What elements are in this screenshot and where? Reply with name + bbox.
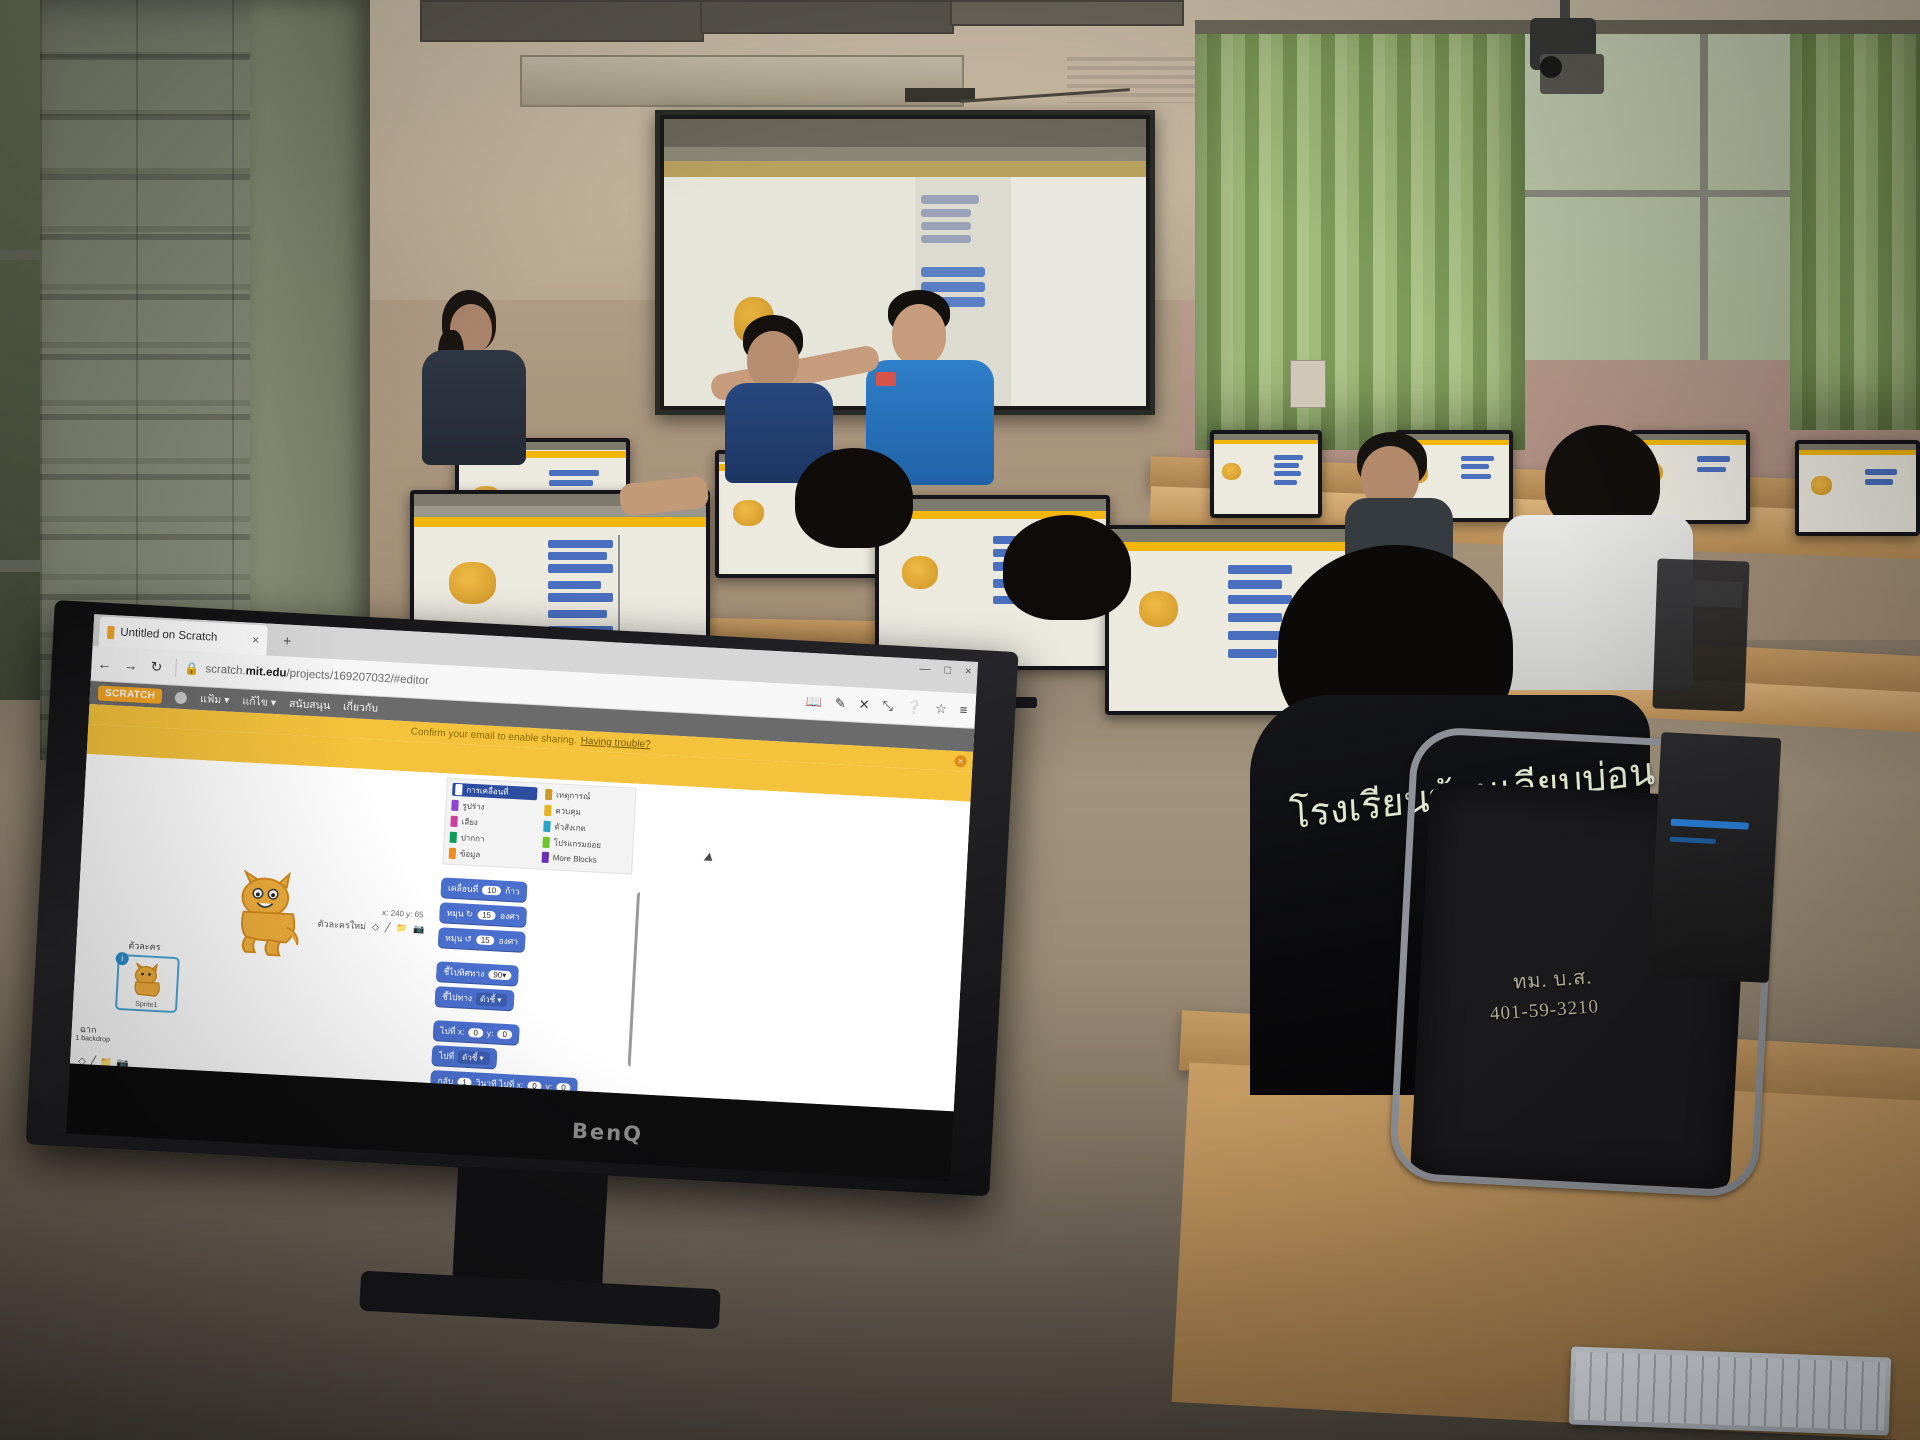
category-label: การเคลื่อนที่: [466, 784, 509, 799]
torso: [422, 350, 526, 465]
scratch-logo[interactable]: SCRATCH: [98, 685, 163, 703]
scratch-block[interactable]: ไปที่ x:0y:0: [433, 1020, 520, 1045]
scratch-workspace: x: 240 y: 65 ตัวละครใหม่ ◇ ╱ 📁 📷 ตัวละคร…: [70, 754, 970, 1111]
coord-x: x: 240: [382, 908, 404, 918]
motion-swatch: [455, 784, 463, 795]
category-label: ข้อมูล: [460, 847, 481, 861]
menu-edit[interactable]: แก้ไข ▾: [242, 692, 277, 711]
fullscreen-icon[interactable]: ⤡: [882, 698, 893, 715]
favorite-icon[interactable]: ☆: [935, 701, 948, 718]
category-label: ปากกา: [460, 831, 484, 845]
sprite-thumbnail[interactable]: i Sprite1: [115, 954, 180, 1013]
green-curtain: [1790, 30, 1920, 430]
monitor-stand: [452, 1166, 608, 1294]
block-label: ก้าว: [505, 884, 520, 899]
close-alert-icon[interactable]: ×: [954, 755, 967, 768]
green-curtain: [1195, 30, 1525, 450]
camera-lens-icon: [1540, 56, 1562, 78]
url-domain: mit.edu: [245, 665, 286, 679]
ceiling-panel: [700, 0, 954, 34]
category-more-blocks[interactable]: More Blocks: [542, 852, 627, 868]
scratch-scripts-area[interactable]: [628, 784, 970, 1111]
block-label: ชี้ไปทาง: [442, 990, 473, 1006]
foreground-monitor: Untitled on Scratch × + — □ × ← → ↻ 🔒 sc…: [25, 600, 1054, 1213]
background-monitor: [1795, 440, 1920, 536]
block-input[interactable]: 90▾: [488, 969, 511, 979]
block-label: ไปที่ x:: [440, 1023, 465, 1038]
category-column-left: การเคลื่อนที่ รูปร่าง เสียง ปากกา ข้อมูล: [449, 783, 538, 864]
category-motion[interactable]: การเคลื่อนที่: [452, 783, 538, 801]
upload-sprite-icon[interactable]: 📁: [396, 922, 408, 934]
monitor-brand-logo: BenQ: [571, 1119, 643, 1147]
new-sprite-label: ตัวละครใหม่: [317, 917, 366, 934]
scratch-favicon: [107, 625, 115, 638]
category-label: โปรแกรมย่อย: [553, 836, 601, 852]
block-label: y:: [487, 1028, 494, 1038]
sprite-thumb-cat-icon: [125, 961, 167, 1003]
maximize-icon[interactable]: □: [944, 664, 951, 676]
sound-swatch: [450, 816, 458, 827]
alert-link[interactable]: Having trouble?: [580, 735, 651, 750]
scratch-stage-pane[interactable]: x: 240 y: 65 ตัวละครใหม่ ◇ ╱ 📁 📷 ตัวละคร…: [70, 754, 441, 1105]
head: [892, 304, 946, 366]
menu-file[interactable]: แฟ้ม ▾: [200, 690, 230, 709]
keyboard: [1569, 1346, 1892, 1435]
monitor-screen[interactable]: Untitled on Scratch × + — □ × ← → ↻ 🔒 sc…: [70, 614, 978, 1111]
category-pen[interactable]: ปากกา: [449, 831, 535, 849]
category-sensing[interactable]: ตัวสังเกต: [543, 820, 629, 838]
projected-browser-chrome: [664, 119, 1146, 147]
scratch-block[interactable]: เคลื่อนที่10ก้าว: [440, 877, 527, 902]
category-operators[interactable]: โปรแกรมย่อย: [542, 836, 628, 854]
url-path: /projects/169207032/#editor: [286, 668, 429, 688]
category-label: More Blocks: [553, 853, 597, 864]
person-seated-student: [795, 448, 915, 568]
block-input[interactable]: 0: [497, 1029, 512, 1039]
pc-tower: [1652, 558, 1749, 711]
control-swatch: [544, 805, 552, 816]
pen-swatch: [449, 832, 457, 843]
tab-title: Untitled on Scratch: [120, 627, 218, 644]
sprite-library-icon[interactable]: ◇: [372, 921, 380, 932]
block-label: หมุน ↻: [446, 906, 473, 921]
reload-icon[interactable]: ↻: [143, 657, 170, 675]
close-tab-icon[interactable]: ×: [252, 633, 260, 647]
paint-sprite-icon[interactable]: ╱: [385, 922, 391, 933]
head: [747, 331, 799, 389]
add-notes-icon[interactable]: ✎: [834, 695, 846, 712]
block-label: หมุน ↺: [445, 931, 472, 946]
coord-y: y: 65: [406, 909, 424, 919]
operators-swatch: [542, 837, 550, 848]
ceiling-panel: [950, 0, 1184, 26]
ceiling-panel: [420, 0, 704, 42]
new-tab-icon[interactable]: +: [283, 632, 292, 648]
forward-icon[interactable]: →: [117, 656, 144, 673]
scratch-block[interactable]: หมุน ↻15องศา: [439, 902, 527, 927]
person-back-right: [1345, 432, 1455, 562]
hair: [1003, 515, 1131, 620]
window-controls[interactable]: — □ ×: [919, 663, 972, 678]
help-icon[interactable]: ❔: [906, 699, 923, 716]
category-events[interactable]: เหตุการณ์: [545, 788, 631, 806]
block-label: เคลื่อนที่: [448, 881, 479, 897]
block-input[interactable]: 15: [477, 910, 496, 920]
category-control[interactable]: ควบคุม: [544, 804, 630, 822]
block-label: องศา: [500, 909, 520, 924]
block-input[interactable]: 0: [468, 1028, 483, 1038]
person-seated-student: [1003, 515, 1133, 635]
block-dropdown[interactable]: ตัวชี้ ▾: [476, 992, 508, 1007]
language-globe-icon[interactable]: [175, 691, 188, 704]
person-hand: [620, 480, 710, 520]
monitor-screen: [1799, 444, 1916, 532]
classroom-photo: โรงเรียนบ้านเลียบบ่อน ทม. บ.ส. 401-59-32…: [0, 0, 1920, 1440]
scratch-block-palette[interactable]: การเคลื่อนที่ รูปร่าง เสียง ปากกา ข้อมูล…: [423, 773, 646, 1111]
block-dropdown[interactable]: ตัวชี้ ▾: [458, 1050, 490, 1065]
minimize-icon[interactable]: —: [919, 663, 931, 676]
category-looks[interactable]: รูปร่าง: [451, 799, 537, 817]
sprite-name: Sprite1: [117, 1000, 175, 1010]
browser-actions[interactable]: 📖 ✎ ✕ ⤡ ❔ ☆ ≡: [805, 694, 975, 719]
menu-about[interactable]: เกี่ยวกับ: [343, 698, 379, 717]
scratch-cat-sprite[interactable]: [226, 867, 307, 959]
menu-tips[interactable]: สนับสนุน: [289, 695, 331, 714]
projected-alert-bar: [664, 161, 1146, 177]
category-column-right: เหตุการณ์ ควบคุม ตัวสังเกต โปรแกรมย่อย M…: [541, 788, 630, 869]
address-bar[interactable]: scratch.mit.edu/projects/169207032/#edit…: [205, 663, 429, 687]
lock-icon: 🔒: [184, 661, 200, 676]
events-swatch: [545, 789, 553, 800]
projected-code-area: [1011, 177, 1146, 406]
block-input[interactable]: 15: [476, 935, 495, 945]
looks-swatch: [451, 800, 459, 811]
block-label: ชี้ไปทิศทาง: [443, 965, 485, 981]
category-sound[interactable]: เสียง: [450, 815, 536, 833]
category-label: ตัวสังเกต: [554, 820, 586, 835]
url-prefix: scratch.: [205, 663, 246, 677]
scratch-block[interactable]: ชี้ไปทิศทาง90▾: [436, 961, 519, 985]
category-data[interactable]: ข้อมูล: [449, 847, 535, 865]
reading-view-icon[interactable]: 📖: [805, 694, 822, 711]
hand: [619, 475, 710, 516]
more-blocks-swatch: [542, 852, 550, 863]
close-window-icon[interactable]: ×: [965, 665, 972, 677]
sprite-coordinates: x: 240 y: 65: [382, 908, 424, 919]
pc-tower: [1649, 732, 1782, 983]
wall-socket: [1290, 360, 1326, 408]
category-label: ควบคุม: [555, 804, 581, 818]
chair-org-label: ทม. บ.ส.: [1512, 960, 1593, 997]
block-category-grid[interactable]: การเคลื่อนที่ รูปร่าง เสียง ปากกา ข้อมูล…: [442, 777, 636, 874]
divider: [175, 659, 177, 677]
motion-block-list[interactable]: เคลื่อนที่10ก้าวหมุน ↻15องศาหมุน ↺15องศา…: [424, 877, 636, 1111]
hair: [795, 448, 913, 548]
block-label: องศา: [498, 934, 518, 949]
scratch-block[interactable]: ไปที่ตัวชี้ ▾: [431, 1045, 497, 1068]
new-sprite-toolbar: ตัวละครใหม่ ◇ ╱ 📁 📷: [317, 917, 425, 937]
flag-patch: [876, 372, 896, 386]
backdrop-count: 1 backdrop: [75, 1035, 110, 1044]
category-label: เสียง: [461, 815, 478, 829]
block-label: ไปที่: [439, 1048, 455, 1063]
category-label: รูปร่าง: [462, 799, 485, 813]
projected-scratch-menubar: [664, 147, 1146, 161]
category-label: เหตุการณ์: [556, 788, 591, 803]
block-input[interactable]: 10: [482, 885, 501, 895]
share-icon[interactable]: ✕: [858, 697, 870, 714]
air-conditioner: [520, 55, 964, 107]
hub-icon[interactable]: ≡: [959, 702, 967, 718]
scratch-block[interactable]: หมุน ↺15องศา: [438, 927, 526, 952]
camera-sprite-icon[interactable]: 📷: [413, 923, 425, 935]
scratch-block[interactable]: ชี้ไปทางตัวชี้ ▾: [435, 986, 515, 1010]
keyboard-keys: [1574, 1352, 1886, 1431]
mouse-cursor-icon: [704, 853, 716, 865]
data-swatch: [449, 848, 457, 859]
sensing-swatch: [543, 821, 551, 832]
back-icon[interactable]: ←: [91, 655, 118, 672]
sprite-panel-label: ตัวละคร: [128, 938, 161, 954]
person-teacher-female: [418, 290, 528, 460]
